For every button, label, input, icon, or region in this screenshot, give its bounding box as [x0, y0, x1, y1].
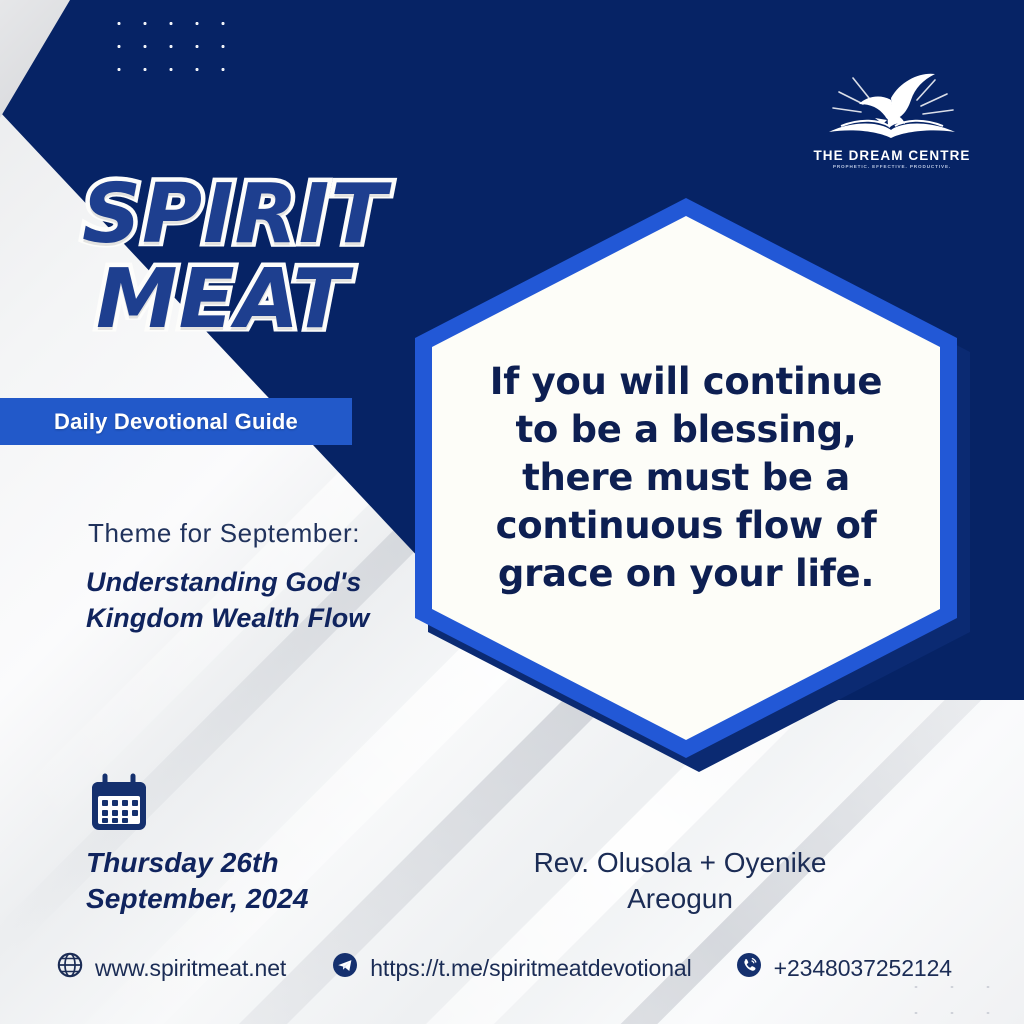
- subtitle-banner: Daily Devotional Guide: [0, 398, 352, 445]
- logo-name: THE DREAM CENTRE: [813, 149, 970, 163]
- quote-text: If you will continue to be a blessing, t…: [471, 358, 901, 598]
- eagle-over-open-book-icon: [817, 70, 967, 148]
- title-line-spirit: SPIRIT: [82, 176, 387, 255]
- dot-grid-pattern-top: [104, 8, 236, 80]
- footer-telegram-text: https://t.me/spiritmeatdevotional: [370, 955, 691, 982]
- theme-label: Theme for September:: [88, 518, 360, 549]
- dream-centre-logo: THE DREAM CENTRE PROPHETIC. EFFECTIVE. P…: [812, 58, 972, 170]
- footer-website[interactable]: www.spiritmeat.net: [57, 952, 286, 984]
- footer-telegram[interactable]: https://t.me/spiritmeatdevotional: [332, 952, 691, 984]
- phone-icon: [736, 952, 762, 984]
- telegram-icon: [332, 952, 358, 984]
- calendar-icon: [88, 772, 150, 839]
- authors: Rev. Olusola + Oyenike Areogun: [470, 845, 890, 917]
- event-date-line1: Thursday 26th: [86, 845, 309, 881]
- footer-website-text: www.spiritmeat.net: [95, 955, 286, 982]
- footer-phone[interactable]: +2348037252124: [736, 952, 952, 984]
- subtitle-banner-label: Daily Devotional Guide: [54, 409, 298, 435]
- theme-value: Understanding God's Kingdom Wealth Flow: [86, 565, 416, 637]
- poster-title: SPIRIT MEAT: [82, 176, 387, 339]
- footer-contacts: www.spiritmeat.net https://t.me/spiritme…: [0, 944, 1024, 992]
- globe-icon: [57, 952, 83, 984]
- logo-tagline: PROPHETIC. EFFECTIVE. PRODUCTIVE.: [833, 165, 951, 170]
- authors-line2: Areogun: [470, 881, 890, 917]
- event-date: Thursday 26th September, 2024: [86, 845, 309, 916]
- event-date-line2: September, 2024: [86, 881, 309, 917]
- authors-line1: Rev. Olusola + Oyenike: [470, 845, 890, 881]
- devotional-poster: THE DREAM CENTRE PROPHETIC. EFFECTIVE. P…: [0, 0, 1024, 1024]
- footer-phone-text: +2348037252124: [774, 955, 952, 982]
- title-line-meat: MEAT: [96, 261, 387, 340]
